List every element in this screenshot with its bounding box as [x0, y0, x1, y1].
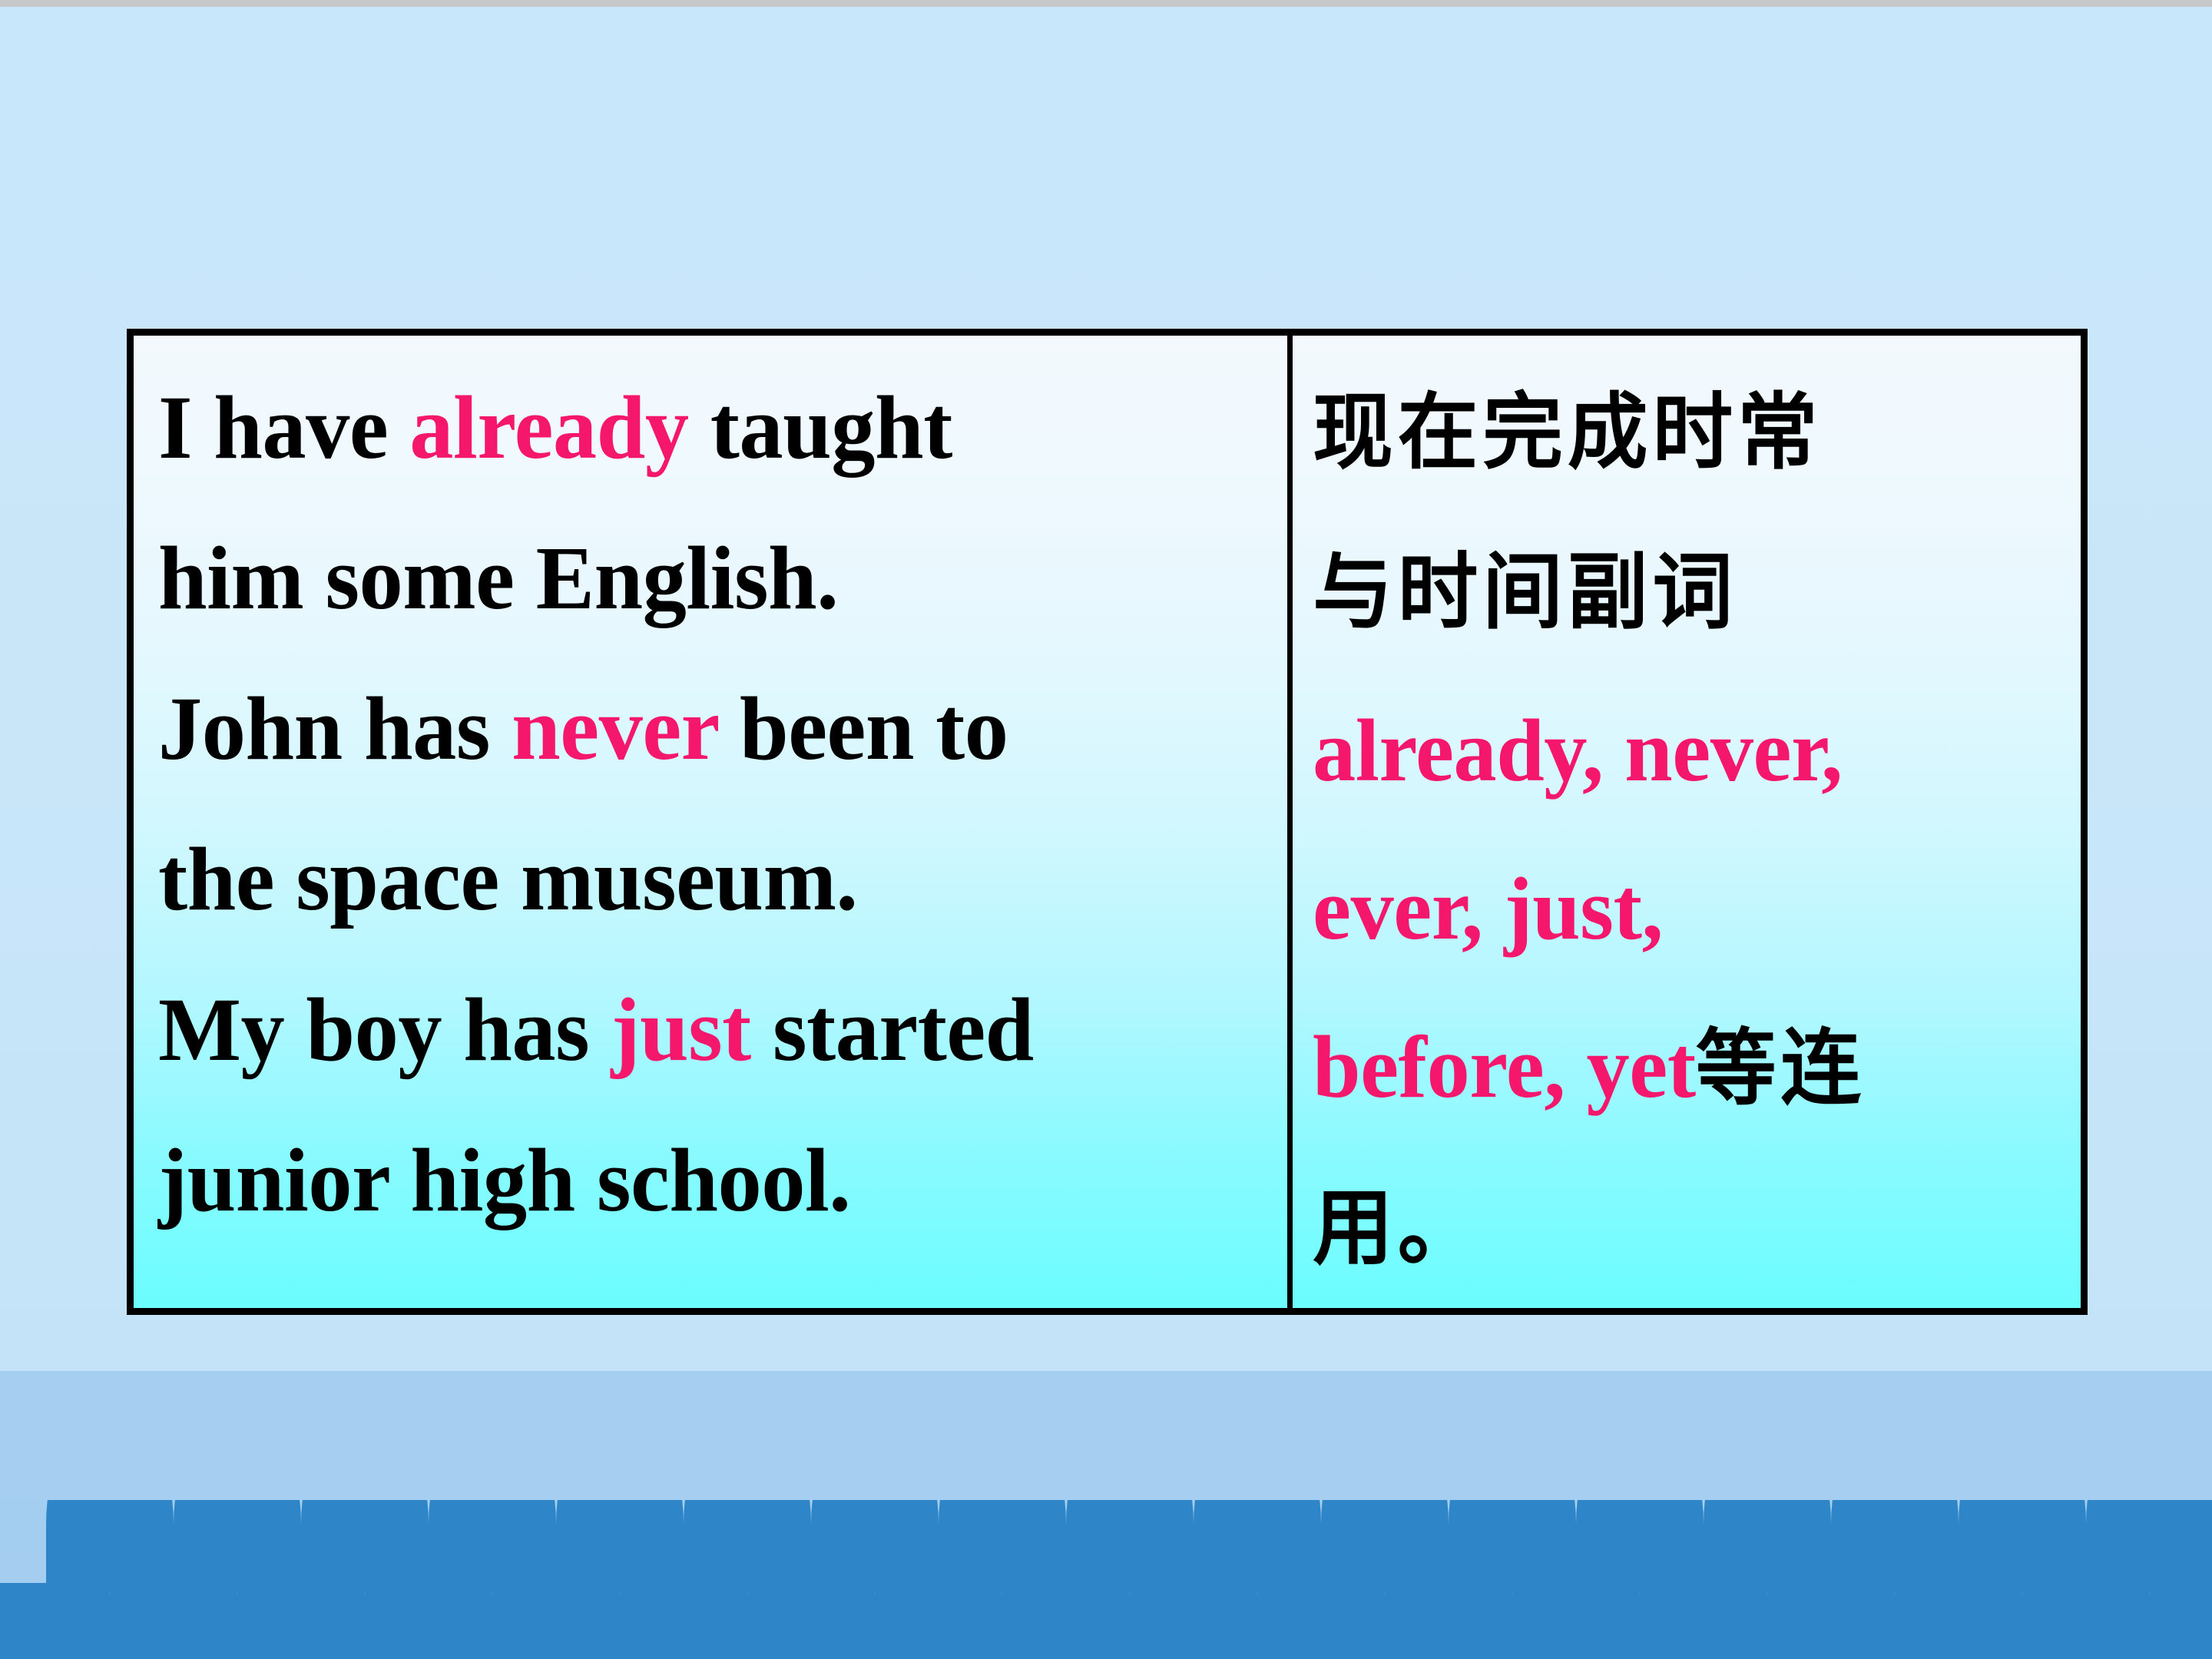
decorative-arch	[301, 1500, 429, 1592]
explanation-line: ever, just,	[1313, 830, 2058, 988]
example-sentence-line: junior high school.	[158, 1105, 1253, 1256]
decorative-arch	[2022, 1583, 2150, 1659]
decorative-arch	[1002, 1583, 1130, 1659]
text-run: the space museum.	[158, 829, 858, 929]
decorative-arch	[110, 1583, 237, 1659]
decorative-arch	[620, 1583, 747, 1659]
decorative-arch	[1066, 1500, 1194, 1592]
decorative-arch	[1959, 1500, 2086, 1592]
table-cell-examples: I have already taughthim some English.Jo…	[134, 336, 1293, 1308]
text-run: started	[751, 979, 1034, 1080]
decorative-arch	[2150, 1583, 2212, 1659]
decorative-arch	[1831, 1500, 1959, 1592]
explanation-line: already, never,	[1313, 672, 2058, 830]
decorative-arch	[1449, 1500, 1576, 1592]
decorative-arch	[46, 1500, 174, 1592]
highlighted-adverb: already	[409, 377, 688, 478]
decorative-arch	[237, 1583, 365, 1659]
decorative-arch	[747, 1583, 875, 1659]
decorative-arch	[1576, 1500, 1704, 1592]
slide-canvas: I have already taughthim some English.Jo…	[0, 0, 2212, 1659]
decorative-arch	[684, 1500, 811, 1592]
decorative-arch	[1257, 1583, 1385, 1659]
decorative-arch	[1385, 1583, 1512, 1659]
decorative-arch	[556, 1500, 684, 1592]
text-run: My boy has	[158, 979, 611, 1080]
decorative-arch	[174, 1500, 301, 1592]
text-run: taught	[689, 377, 952, 478]
text-run: been to	[718, 678, 1008, 779]
decorative-arch	[1130, 1583, 1257, 1659]
explanation-line: before, yet等连	[1313, 988, 2058, 1148]
decorative-arch	[492, 1583, 620, 1659]
chinese-text-run: 与时间副词	[1313, 545, 1737, 641]
decorative-arch	[0, 1583, 110, 1659]
chinese-text-run: 现在完成时常	[1313, 385, 1822, 481]
decorative-arch-row-bottom	[0, 1583, 2212, 1659]
highlighted-adverb: ever, just,	[1313, 860, 1663, 959]
decorative-arch	[1704, 1500, 1831, 1592]
decorative-arch	[1895, 1583, 2022, 1659]
example-sentence-line: My boy has just started	[158, 955, 1253, 1105]
chinese-text-run: 用。	[1313, 1181, 1482, 1277]
top-edge-strip	[0, 0, 2212, 7]
highlighted-adverb: never	[512, 678, 718, 779]
example-sentence-line: John has never been to	[158, 654, 1253, 804]
highlighted-adverb: just	[611, 979, 750, 1080]
highlighted-adverb: already, never,	[1313, 702, 1843, 800]
highlighted-adverb: before, yet	[1313, 1018, 1696, 1117]
example-sentence-line: him some English.	[158, 503, 1253, 654]
text-run: him some English.	[158, 528, 838, 628]
text-run: John has	[158, 678, 512, 779]
decorative-arch	[1512, 1583, 1640, 1659]
grammar-comparison-table: I have already taughthim some English.Jo…	[127, 329, 2088, 1315]
decorative-arch	[429, 1500, 556, 1592]
decorative-arch-row-top	[0, 1500, 2212, 1592]
example-sentence-line: I have already taught	[158, 353, 1253, 503]
decorative-arch	[365, 1583, 492, 1659]
decorative-arch	[2086, 1500, 2212, 1592]
decorative-arch	[1640, 1583, 1767, 1659]
decorative-arch	[875, 1583, 1002, 1659]
decorative-arch	[939, 1500, 1066, 1592]
explanation-line: 现在完成时常	[1313, 353, 2058, 512]
example-sentence-line: the space museum.	[158, 804, 1253, 955]
decorative-arch	[1194, 1500, 1321, 1592]
table-cell-explanation: 现在完成时常与时间副词already, never,ever, just,bef…	[1293, 336, 2081, 1308]
text-run: junior high school.	[158, 1130, 850, 1230]
explanation-line: 用。	[1313, 1148, 2058, 1308]
chinese-text-run: 等连	[1696, 1021, 1866, 1117]
decorative-arch	[1767, 1583, 1895, 1659]
explanation-line: 与时间副词	[1313, 512, 2058, 672]
decorative-arch	[1321, 1500, 1449, 1592]
decorative-arch	[811, 1500, 939, 1592]
text-run: I have	[158, 377, 409, 478]
